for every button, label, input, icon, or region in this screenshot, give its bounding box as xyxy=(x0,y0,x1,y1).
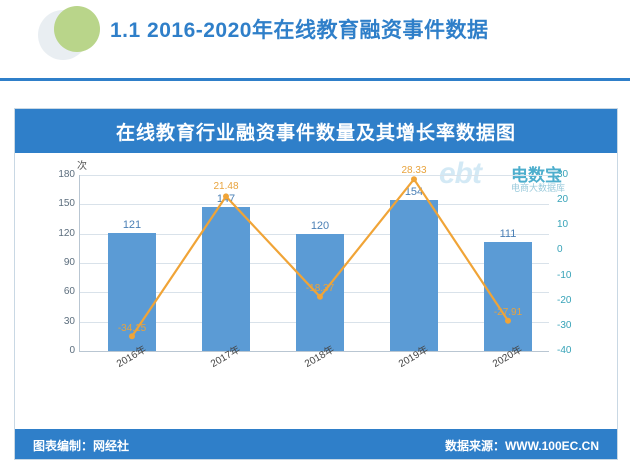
chart-panel: 在线教育行业融资事件数量及其增长率数据图 次 ebt 电数宝 电商大数据库 18… xyxy=(14,108,618,460)
y-right-tick: 0 xyxy=(557,244,597,255)
y-left-tick: 60 xyxy=(35,286,75,297)
page-title: 1.1 2016-2020年在线教育融资事件数据 xyxy=(110,14,488,44)
y-right-tick: -20 xyxy=(557,295,597,306)
y-left-tick: 120 xyxy=(35,228,75,239)
line-value-2017: 21.48 xyxy=(198,181,254,192)
y-right-tick: -10 xyxy=(557,270,597,281)
header-divider xyxy=(0,78,630,81)
y-left-tick: 0 xyxy=(35,345,75,356)
line-value-2018: -18.37 xyxy=(292,283,348,294)
chart-title: 在线教育行业融资事件数量及其增长率数据图 xyxy=(15,109,617,153)
chart-footer: 图表编制：网经社 数据来源：WWW.100EC.CN xyxy=(15,429,617,459)
y-left-tick: 150 xyxy=(35,198,75,209)
line-value-2016: -34.15 xyxy=(104,323,160,334)
line-value-2020: -27.91 xyxy=(480,307,536,318)
y-left-tick: 180 xyxy=(35,169,75,180)
footer-source-editor: 图表编制：网经社 xyxy=(33,437,129,454)
y-left-tick: 90 xyxy=(35,257,75,268)
y-right-tick: -40 xyxy=(557,345,597,356)
y-right-tick: 30 xyxy=(557,169,597,180)
line-value-2019: 28.33 xyxy=(386,165,442,176)
y-axis-unit-label: 次 xyxy=(77,157,87,172)
footer-data-source: 数据来源：WWW.100EC.CN xyxy=(445,437,599,454)
y-right-tick: -30 xyxy=(557,320,597,331)
page-header: 1.1 2016-2020年在线教育融资事件数据 xyxy=(0,0,630,78)
y-right-tick: 10 xyxy=(557,219,597,230)
circle-green-icon xyxy=(54,6,100,52)
y-right-tick: 20 xyxy=(557,194,597,205)
chart-area: 次 ebt 电数宝 电商大数据库 180 150 120 90 60 xyxy=(15,153,617,415)
decorative-circles xyxy=(38,6,100,68)
y-left-tick: 30 xyxy=(35,316,75,327)
plot: 180 150 120 90 60 30 0 30 20 10 0 -10 -2… xyxy=(79,175,549,351)
